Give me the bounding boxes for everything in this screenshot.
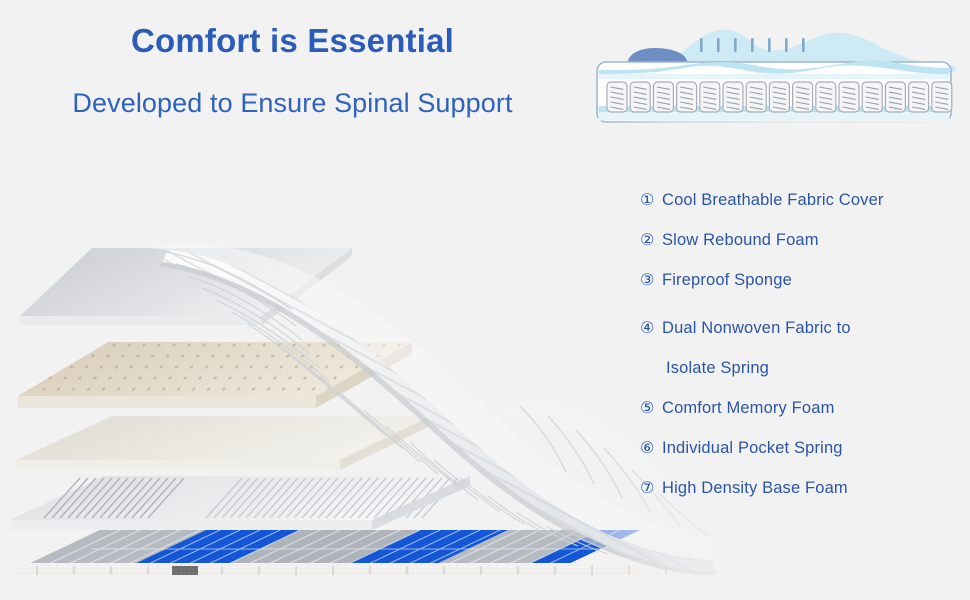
pocket-spring-9: [793, 82, 813, 112]
pocket-spring-11: [839, 82, 859, 112]
feature-item-4: ④Dual Nonwoven Fabric to Isolate Spring: [640, 318, 851, 379]
pocket-spring-7: [746, 82, 766, 112]
pocket-spring-6: [723, 82, 743, 112]
feature-item-6: ⑥Individual Pocket Spring: [640, 438, 843, 459]
pocket-spring-row: [607, 82, 952, 112]
number-4-icon: ④: [640, 318, 662, 339]
feature-item-2: ②Slow Rebound Foam: [640, 230, 819, 251]
number-6-icon: ⑥: [640, 438, 662, 459]
number-2-icon: ②: [640, 230, 662, 251]
feature-label-3: Fireproof Sponge: [662, 271, 792, 289]
feature-label-4-line2: Isolate Spring: [640, 358, 851, 379]
feature-label-7: High Density Base Foam: [662, 479, 848, 497]
feature-label-1: Cool Breathable Fabric Cover: [662, 191, 884, 209]
pocket-spring-13: [885, 82, 905, 112]
layer-dual-nonwoven-fabric: [10, 476, 470, 530]
pocket-spring-4: [677, 82, 697, 112]
pocket-spring-3: [653, 82, 673, 112]
feature-label-4: Dual Nonwoven Fabric to: [662, 319, 851, 337]
feature-item-5: ⑤Comfort Memory Foam: [640, 398, 834, 419]
feature-label-2: Slow Rebound Foam: [662, 231, 819, 249]
pocket-spring-10: [816, 82, 836, 112]
layer-individual-pocket-spring: [20, 530, 640, 568]
pocket-spring-12: [862, 82, 882, 112]
feature-item-1: ①Cool Breathable Fabric Cover: [640, 190, 884, 211]
pocket-spring-14: [909, 82, 929, 112]
feature-item-3: ③Fireproof Sponge: [640, 270, 792, 291]
number-7-icon: ⑦: [640, 478, 662, 499]
pocket-spring-15: [932, 82, 952, 112]
pocket-spring-8: [769, 82, 789, 112]
pocket-spring-2: [630, 82, 650, 112]
infographic-canvas: Comfort is Essential Developed to Ensure…: [0, 0, 970, 600]
person-on-mattress-diagram: [583, 10, 965, 132]
number-3-icon: ③: [640, 270, 662, 291]
feature-item-7: ⑦High Density Base Foam: [640, 478, 848, 499]
feature-label-5: Comfort Memory Foam: [662, 399, 834, 417]
page-subtitle: Developed to Ensure Spinal Support: [0, 88, 585, 119]
feature-label-6: Individual Pocket Spring: [662, 439, 843, 457]
number-1-icon: ①: [640, 190, 662, 211]
page-title: Comfort is Essential: [0, 22, 585, 60]
pocket-spring-5: [700, 82, 720, 112]
number-5-icon: ⑤: [640, 398, 662, 419]
pocket-spring-1: [607, 82, 627, 112]
layer-fireproof-sponge: [16, 416, 430, 470]
